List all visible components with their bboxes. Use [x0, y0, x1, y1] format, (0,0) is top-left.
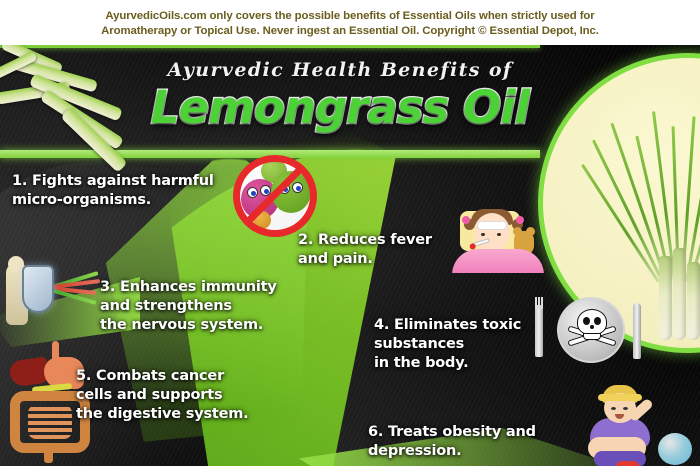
headband-icon [598, 394, 642, 401]
infographic-canvas: AyurvedicOils.com only covers the possib… [0, 0, 700, 466]
benefit-item-4: 4. Eliminates toxic substances in the bo… [374, 316, 521, 373]
ball-icon [658, 433, 692, 465]
title-script: Ayurvedic Health Benefits of [140, 59, 540, 81]
page-title: Lemongrass Oil [140, 83, 540, 133]
disclaimer-line-2: Aromatherapy or Topical Use. Never inges… [101, 24, 599, 39]
benefit-item-1: 1. Fights against harmful micro-organism… [12, 172, 214, 210]
fork-icon [535, 305, 543, 357]
benefit-item-5: 5. Combats cancer cells and supports the… [76, 367, 248, 424]
shoe-icon [616, 461, 640, 466]
fever-compress-icon [477, 221, 507, 230]
benefit-item-2: 2. Reduces fever and pain. [298, 231, 432, 269]
title-block: Ayurvedic Health Benefits of Lemongrass … [140, 59, 540, 133]
sick-girl-icon [452, 205, 544, 273]
immunity-shield-icon [0, 255, 100, 335]
benefit-item-6: 6. Treats obesity and depression. [368, 423, 536, 461]
infographic-body: Ayurvedic Health Benefits of Lemongrass … [0, 45, 700, 466]
benefit-item-3: 3. Enhances immunity and strengthens the… [100, 278, 277, 335]
no-germs-icon [231, 155, 321, 237]
knife-icon [633, 303, 641, 359]
skull-icon [577, 309, 607, 335]
obese-child-icon [588, 385, 700, 466]
small-intestine-icon [28, 405, 72, 439]
toxic-plate-icon [527, 293, 643, 369]
disclaimer-bar: AyurvedicOils.com only covers the possib… [0, 0, 700, 45]
disclaimer-line-1: AyurvedicOils.com only covers the possib… [105, 9, 594, 24]
lemongrass-top-left-image [0, 47, 124, 175]
